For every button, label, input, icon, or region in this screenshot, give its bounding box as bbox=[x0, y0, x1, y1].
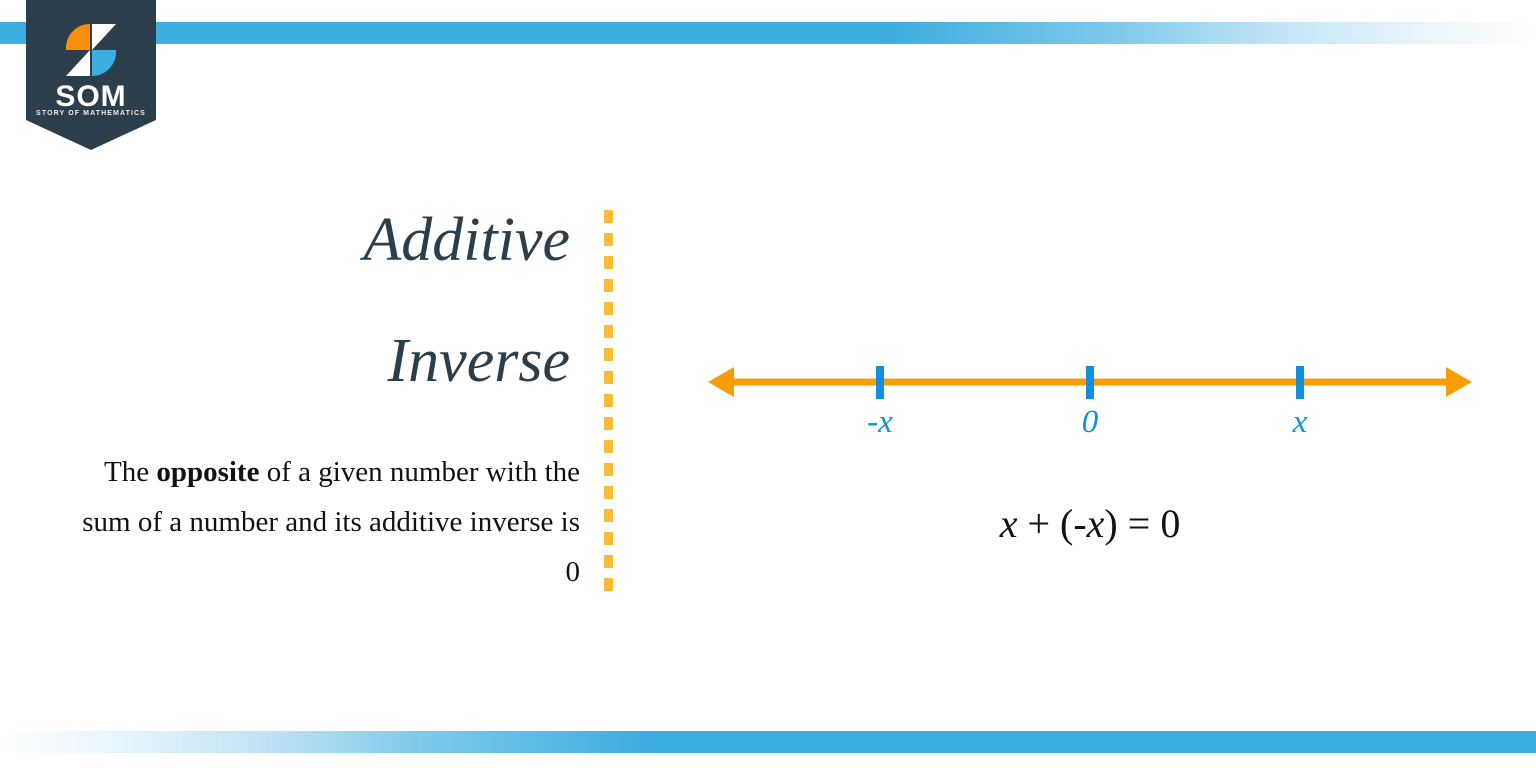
tick-mark-neg-x bbox=[876, 366, 884, 399]
equation-rhs: 0 bbox=[1160, 501, 1180, 546]
equation-close-paren: ) bbox=[1104, 501, 1117, 546]
tick-mark-zero bbox=[1086, 366, 1094, 399]
logo-tagline: STORY OF MATHEMATICS bbox=[26, 110, 156, 117]
number-line-label-neg-x: -x bbox=[867, 406, 893, 439]
definition-text: The opposite of a given number with the … bbox=[80, 448, 580, 598]
bottom-accent-bar bbox=[0, 731, 1536, 753]
brand-logo: SOM STORY OF MATHEMATICS bbox=[26, 0, 156, 150]
right-arrow-icon bbox=[1446, 367, 1472, 397]
page-title: Additive Inverse bbox=[100, 205, 570, 398]
page-title-line-2: Inverse bbox=[100, 326, 570, 397]
definition-text-part-1: The bbox=[104, 456, 156, 488]
equation-display: x + (-x) = 0 bbox=[830, 500, 1350, 548]
logo-wordmark: SOM bbox=[26, 82, 156, 112]
number-line-diagram: -x 0 x bbox=[700, 340, 1490, 470]
left-arrow-icon bbox=[708, 367, 734, 397]
number-line-label-zero: 0 bbox=[1082, 406, 1099, 439]
equation-equals: = bbox=[1118, 501, 1161, 546]
number-line-label-x: x bbox=[1293, 406, 1308, 439]
definition-emphasis: opposite bbox=[156, 456, 259, 488]
som-monogram-icon bbox=[64, 22, 118, 78]
equation-neg-var: -x bbox=[1073, 501, 1104, 546]
top-accent-bar bbox=[0, 22, 1536, 44]
page-title-line-1: Additive bbox=[100, 205, 570, 276]
vertical-dashed-divider bbox=[604, 210, 613, 598]
equation-plus: + bbox=[1017, 501, 1060, 546]
tick-mark-x bbox=[1296, 366, 1304, 399]
equation-open-paren: ( bbox=[1060, 501, 1073, 546]
equation-lhs-var: x bbox=[1000, 501, 1018, 546]
